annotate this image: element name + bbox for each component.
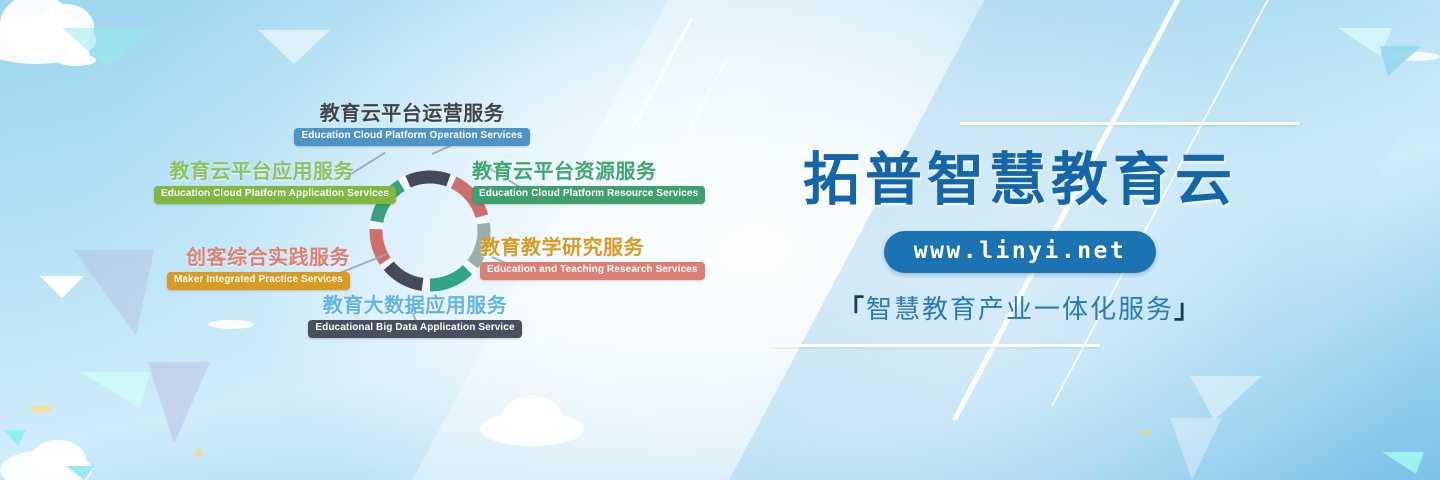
triangle-white-mid-right bbox=[1190, 376, 1262, 420]
triangle-cyan-small bbox=[4, 430, 26, 446]
node-label-cn: 教育教学研究服务 bbox=[480, 238, 690, 258]
tagline-text: 智慧教育产业一体化服务 bbox=[866, 294, 1174, 324]
node-label-cn: 教育大数据应用服务 bbox=[290, 296, 540, 316]
node-label-en: Education Cloud Platform Resource Servic… bbox=[472, 186, 705, 204]
triangle-pale-right bbox=[1170, 418, 1222, 480]
dot-yellow-small bbox=[196, 449, 202, 457]
node-label-en: Educational Big Data Application Service bbox=[308, 320, 521, 338]
node-label-en: Education Cloud Platform Application Ser… bbox=[154, 186, 396, 204]
triangle-white-2 bbox=[40, 276, 84, 298]
website-url-badge[interactable]: www.linyi.net bbox=[884, 231, 1157, 273]
node-education-and-teaching-research-services[interactable]: 教育教学研究服务 Education and Teaching Research… bbox=[480, 238, 690, 280]
node-label-en: Education Cloud Platform Operation Servi… bbox=[294, 128, 529, 146]
brand-tagline: 「智慧教育产业一体化服务」 bbox=[760, 289, 1280, 326]
triangle-violet-2 bbox=[148, 362, 210, 444]
triangle-teal-large bbox=[62, 28, 154, 68]
triangle-violet-1 bbox=[74, 250, 154, 336]
segment-topright-dark bbox=[408, 177, 448, 182]
triangle-cyan-bottom bbox=[66, 466, 94, 480]
brand-block: 拓普智慧教育云 www.linyi.net 「智慧教育产业一体化服务」 bbox=[760, 100, 1280, 370]
node-education-cloud-platform-resource-services[interactable]: 教育云平台资源服务 Education Cloud Platform Resou… bbox=[472, 162, 682, 204]
promo-banner: 教育云平台运营服务 Education Cloud Platform Opera… bbox=[0, 0, 1440, 480]
segment-bottomleft-dark bbox=[389, 266, 423, 285]
brand-title: 拓普智慧教育云 bbox=[760, 151, 1280, 211]
node-educational-big-data-application-service[interactable]: 教育大数据应用服务 Educational Big Data Applicati… bbox=[290, 296, 540, 338]
node-label-cn: 教育云平台应用服务 bbox=[154, 162, 354, 182]
triangle-blue-right-top bbox=[1380, 46, 1422, 76]
node-label-en: Maker Integrated Practice Services bbox=[167, 272, 350, 290]
node-label-cn: 创客综合实践服务 bbox=[160, 248, 350, 268]
triangle-yellow-sliver bbox=[30, 406, 52, 412]
dot-olive-right bbox=[1140, 430, 1152, 435]
node-education-cloud-platform-operation-services[interactable]: 教育云平台运营服务 Education Cloud Platform Opera… bbox=[282, 104, 542, 146]
node-education-cloud-platform-application-services[interactable]: 教育云平台应用服务 Education Cloud Platform Appli… bbox=[154, 162, 354, 204]
bracket-open-icon: 「 bbox=[838, 294, 866, 324]
segment-bottom-green bbox=[430, 270, 468, 285]
triangle-white-1 bbox=[258, 30, 330, 64]
node-label-cn: 教育云平台运营服务 bbox=[282, 104, 542, 124]
node-label-cn: 教育云平台资源服务 bbox=[472, 162, 682, 182]
services-ring-diagram: 教育云平台运营服务 Education Cloud Platform Opera… bbox=[160, 104, 680, 354]
triangle-mint-large bbox=[80, 372, 150, 408]
divider-top bbox=[960, 122, 1300, 125]
divider-bottom bbox=[770, 344, 1100, 347]
bracket-close-icon: 」 bbox=[1174, 294, 1202, 324]
node-maker-integrated-practice-services[interactable]: 创客综合实践服务 Maker Integrated Practice Servi… bbox=[160, 248, 350, 290]
triangle-mint-right bbox=[1382, 452, 1424, 474]
node-label-en: Education and Teaching Research Services bbox=[480, 262, 705, 280]
